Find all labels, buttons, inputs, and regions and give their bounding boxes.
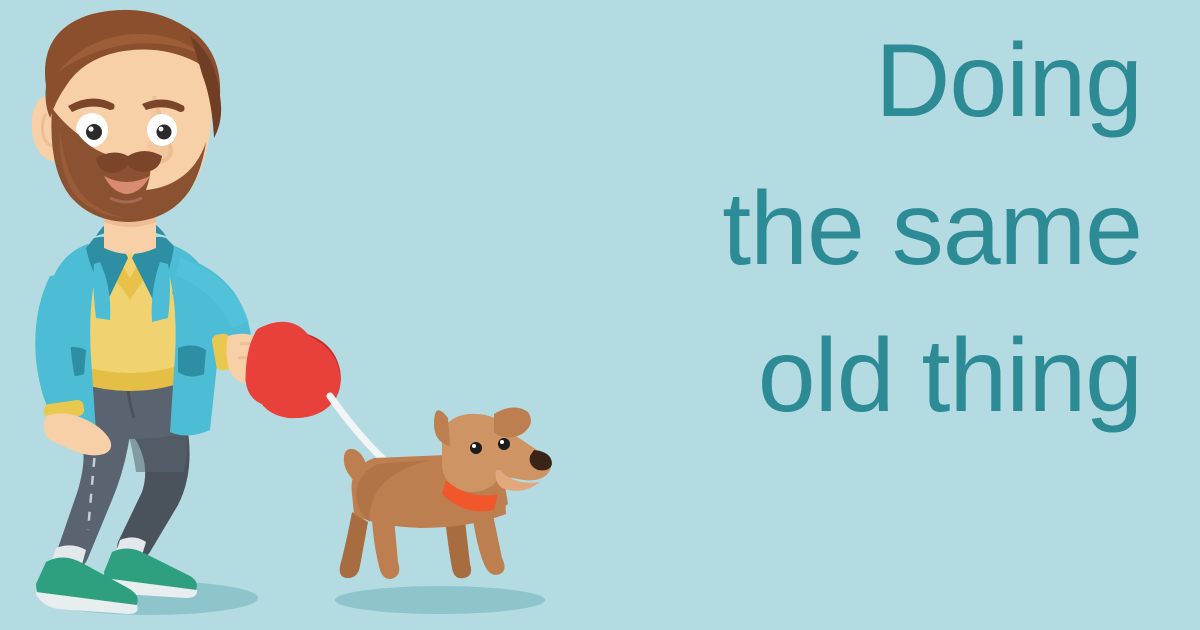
man-head: [32, 10, 221, 222]
headline-line-1: Doing: [622, 8, 1142, 156]
dog-ground-shadow: [335, 586, 545, 614]
bearded-man: [32, 10, 275, 614]
poster-canvas: Doing the same old thing: [0, 0, 1200, 630]
headline: Doing the same old thing: [622, 8, 1142, 451]
dog-ear-far: [434, 410, 450, 446]
illustration-man-walking-dog: [0, 0, 660, 630]
headline-line-2: the same: [622, 156, 1142, 304]
brown-dog: [340, 407, 552, 579]
dog-eye-near: [498, 438, 510, 450]
dog-back-leg-far: [340, 512, 368, 578]
headline-line-3: old thing: [622, 303, 1142, 451]
illustration-svg: [0, 0, 660, 630]
dog-ear-near: [494, 407, 531, 437]
dog-eye-far: [470, 442, 482, 454]
dog-back-leg-near: [372, 518, 399, 579]
